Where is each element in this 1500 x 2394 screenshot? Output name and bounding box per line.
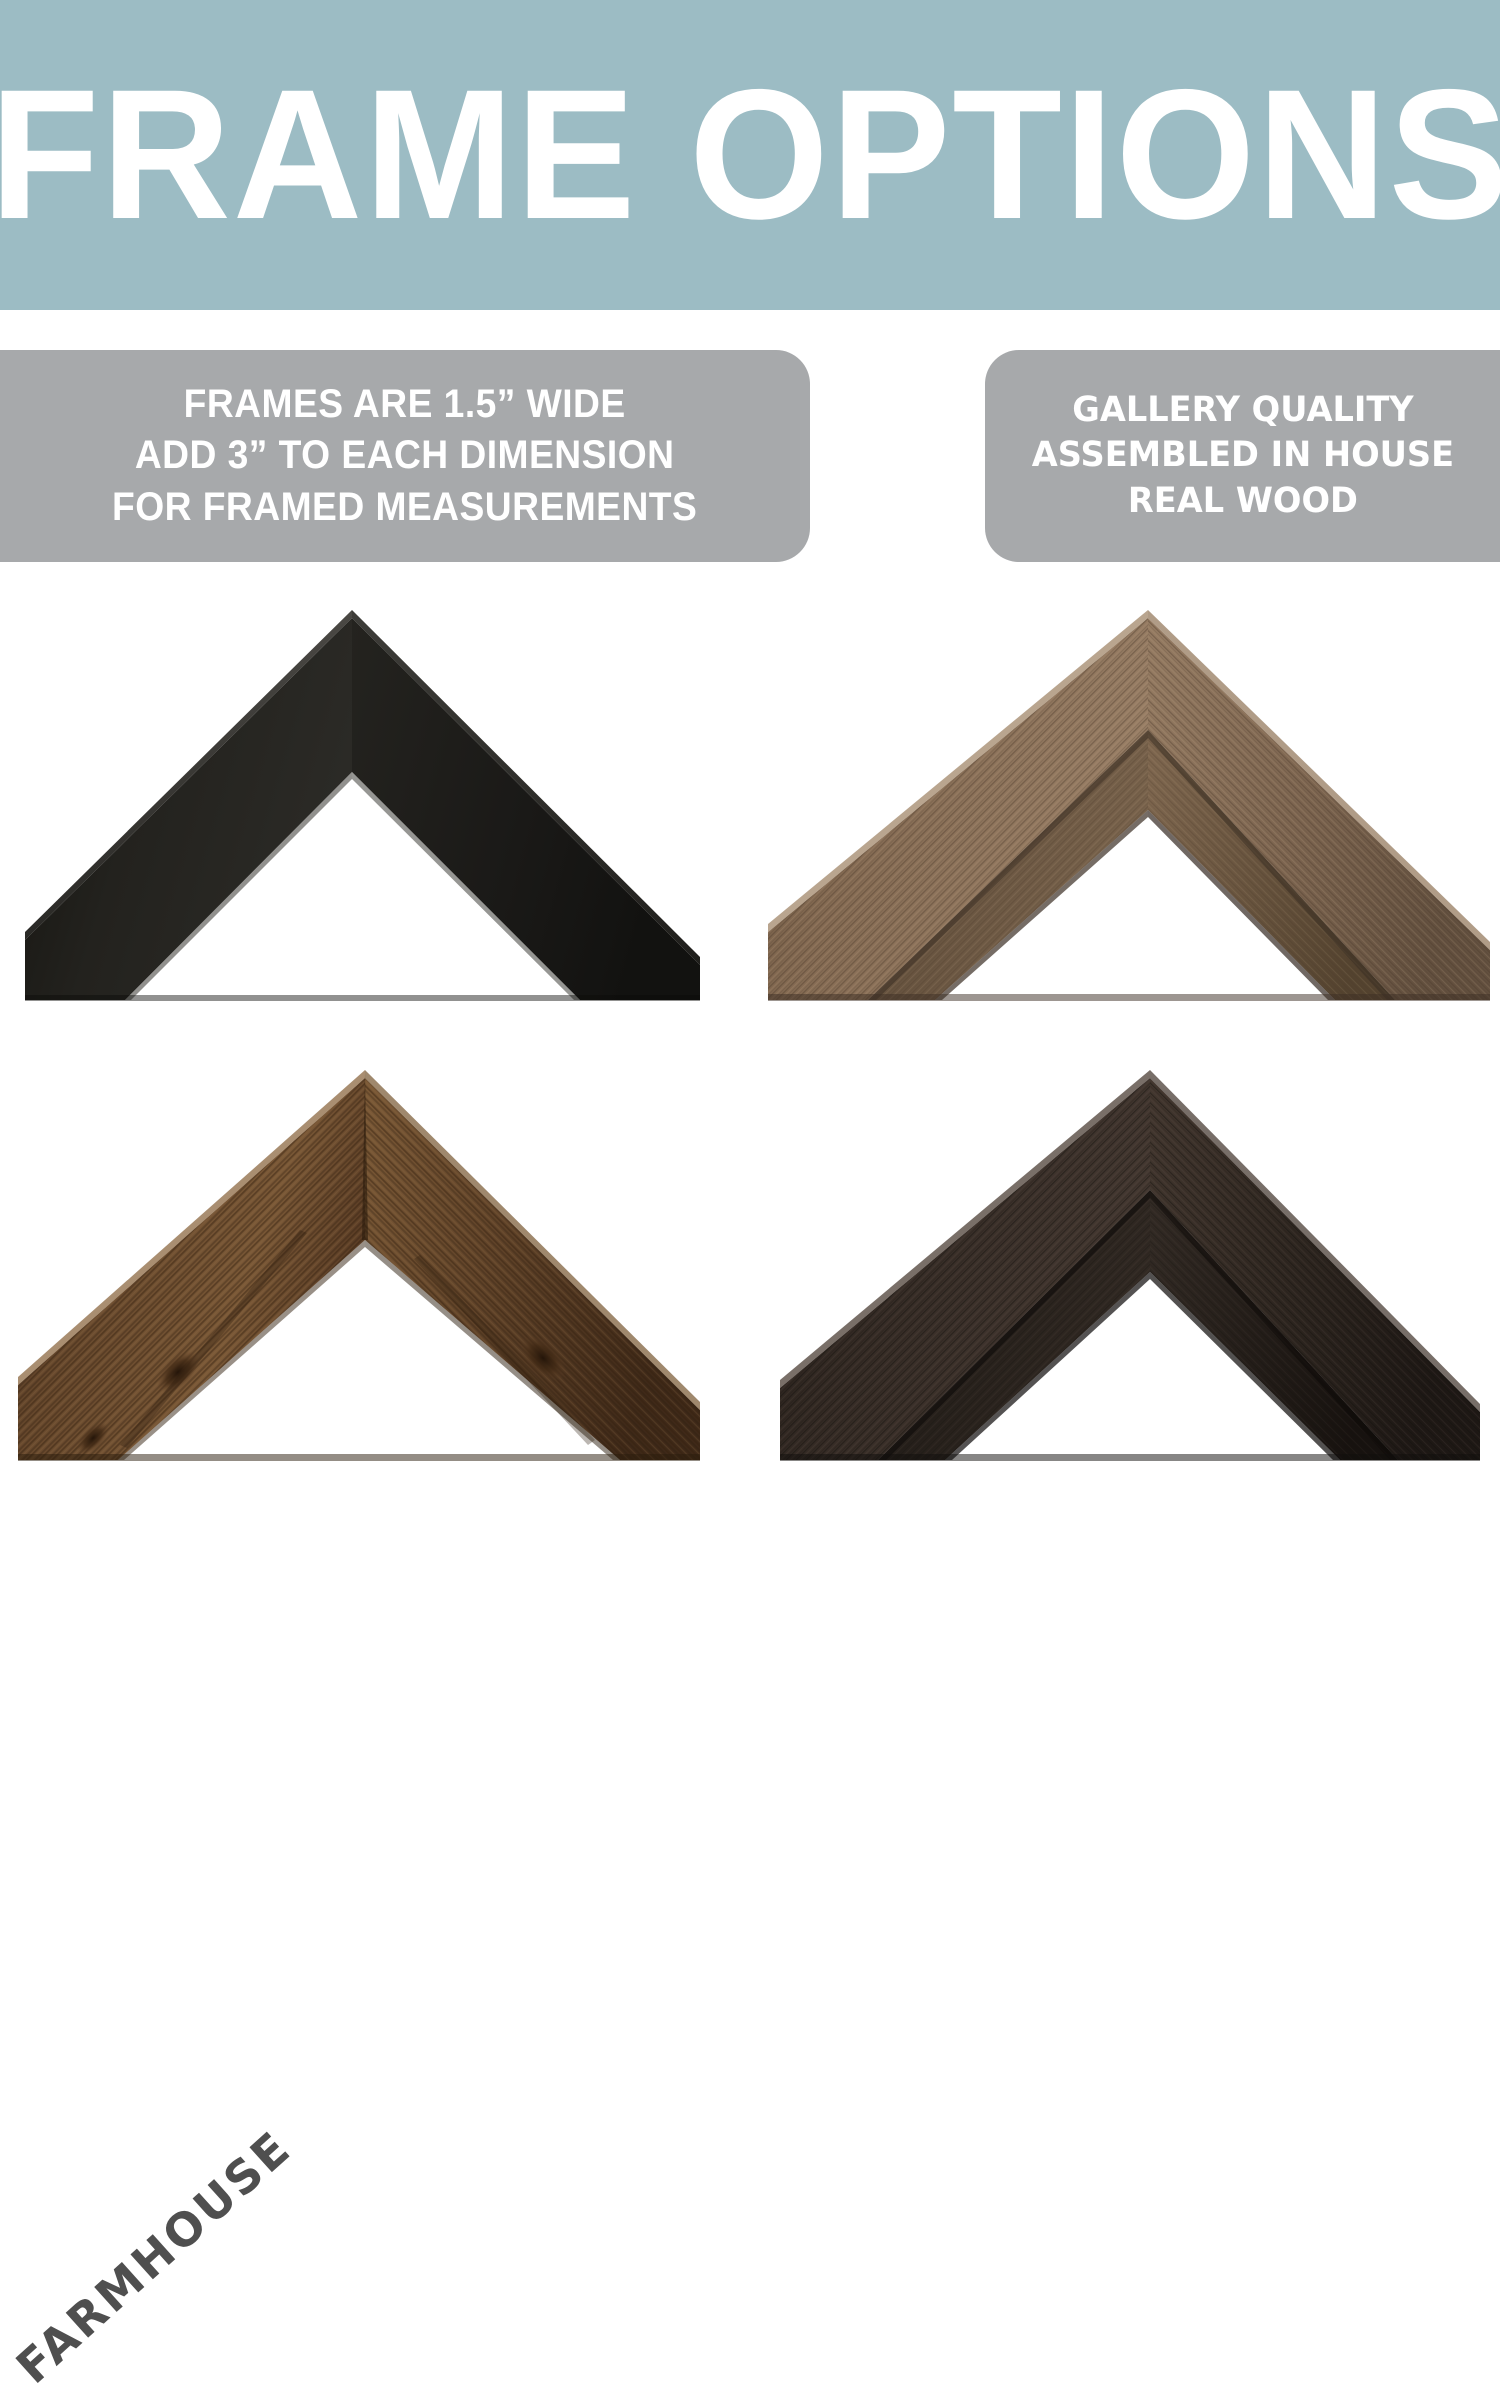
frame-corner-midnight-icon — [0, 580, 750, 1050]
header-banner: FRAME OPTIONS — [0, 0, 1500, 310]
quality-line-2: ASSEMBLED IN HOUSE — [1031, 433, 1453, 479]
frame-corner-charcoal-icon — [750, 1040, 1500, 1510]
frame-label-farmhouse: FARMHOUSE — [6, 2120, 302, 2394]
frame-sample-midnight[interactable]: MIDNIGHT — [0, 580, 750, 1050]
frame-corner-driftwood-icon — [750, 580, 1500, 1050]
quality-line-3: REAL WOOD — [1031, 479, 1453, 525]
measurements-callout: FRAMES ARE 1.5” WIDE ADD 3” TO EACH DIME… — [0, 350, 810, 562]
measurements-line-1: FRAMES ARE 1.5” WIDE — [112, 379, 697, 430]
measurements-line-2: ADD 3” TO EACH DIMENSION — [112, 430, 697, 481]
quality-callout-text: GALLERY QUALITY ASSEMBLED IN HOUSE REAL … — [1031, 388, 1453, 525]
measurements-callout-text: FRAMES ARE 1.5” WIDE ADD 3” TO EACH DIME… — [112, 379, 697, 533]
measurements-line-3: FOR FRAMED MEASUREMENTS — [112, 482, 697, 533]
frame-sample-farmhouse[interactable]: FARMHOUSE — [0, 1040, 750, 1510]
quality-line-1: GALLERY QUALITY — [1031, 388, 1453, 434]
frame-sample-charcoal[interactable]: CHARCOAL — [750, 1040, 1500, 1510]
page-title: FRAME OPTIONS — [23, 0, 1478, 310]
frame-sample-driftwood[interactable]: DRIFTWOOD — [750, 580, 1500, 1050]
quality-callout: GALLERY QUALITY ASSEMBLED IN HOUSE REAL … — [985, 350, 1500, 562]
frame-corner-farmhouse-icon — [0, 1040, 750, 1510]
